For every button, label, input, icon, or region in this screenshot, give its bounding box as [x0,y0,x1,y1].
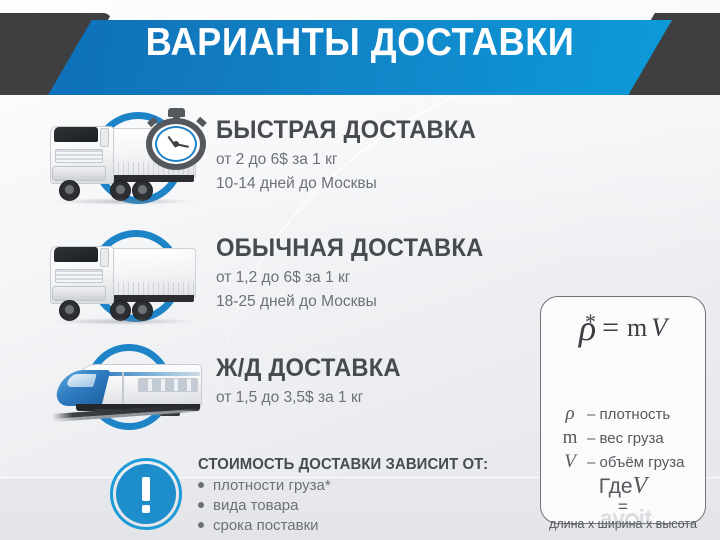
legend-symbol: ρ [559,403,581,425]
truck-bumper [52,166,106,181]
avito-watermark: avit [600,505,652,532]
cost-factor-label: вида товара [213,497,298,514]
option-title: БЫСТРАЯ ДОСТАВКА [216,116,476,145]
formula-fraction: m V [627,315,667,341]
option-price: от 1,2 до 6$ за 1 кг [216,269,497,287]
legend-item: m – вес груза [541,427,705,449]
legend-text: – плотность [587,406,670,423]
train-icon [52,358,202,424]
stopwatch-icon [146,108,208,170]
truck-windshield [54,127,98,142]
option-title: Ж/Д ДОСТАВКА [216,354,401,383]
cost-factor-item: срока поставки [198,517,500,534]
option-price: от 2 до 6$ за 1 кг [216,151,490,169]
train-windows [138,378,198,392]
truck-mirror [100,128,109,147]
legend-symbol: V [559,451,581,473]
truck-mirror [100,248,109,267]
density-formula-card: * ρ = m V ρ – плотность m – вес груза V … [540,296,706,524]
legend-text: – вес груза [587,430,664,447]
legend-item: V – объём груза [541,451,705,473]
formula-equals: = [602,311,619,345]
cost-factors-block: СТОИМОСТЬ ДОСТАВКИ ЗАВИСИТ ОТ: плотности… [198,456,500,534]
formula-expression: * ρ = m V [541,307,705,349]
exclamation-bar [142,477,150,501]
option-price: от 1,5 до 3,5$ за 1 кг [216,389,411,407]
cost-factor-item: плотности груза* [198,477,500,494]
formula-asterisk: * [585,309,596,335]
train-stripe [100,372,200,376]
option-title: ОБЫЧНАЯ ДОСТАВКА [216,234,483,263]
truck-trailer-ribs [108,282,194,295]
exclamation-dot [142,505,150,513]
formula-numerator: m [627,313,647,342]
volume-label: Где [599,475,633,498]
truck-windshield [54,247,98,262]
delivery-option-text: БЫСТРАЯ ДОСТАВКА от 2 до 6$ за 1 кг 10-1… [216,116,490,193]
watermark-circle-glyph [625,513,639,527]
volume-label-row: ГдеV [541,473,705,500]
header-banner: ВАРИАНТЫ ДОСТАВКИ [0,13,720,95]
train-door [122,372,124,404]
truck-grille [55,149,103,163]
cost-factor-label: срока поставки [213,517,319,534]
truck-shadow [54,318,196,325]
option-duration: 18-25 дней до Москвы [216,293,497,311]
stopwatch-center-pin [173,141,179,147]
train-windshield [66,374,97,387]
cost-factors-title: СТОИМОСТЬ ДОСТАВКИ ЗАВИСИТ ОТ: [198,456,488,474]
truck-shadow [54,198,196,205]
truck-icon-wrapper [42,226,212,332]
option-duration: 10-14 дней до Москвы [216,175,490,193]
legend-item: ρ – плотность [541,403,705,425]
delivery-option-text: Ж/Д ДОСТАВКА от 1,5 до 3,5$ за 1 кг [216,354,411,407]
train-icon-wrapper [42,342,212,448]
volume-symbol: V [633,473,648,499]
watermark-text-before: av [600,505,625,531]
page-title: ВАРИАНТЫ ДОСТАВКИ [25,21,695,65]
truck-icon [50,242,196,316]
bullet-icon [198,502,204,508]
truck-with-stopwatch-icon [42,106,212,212]
bullet-icon [198,522,204,528]
cost-factor-item: вида товара [198,497,500,514]
legend-text: – объём груза [587,454,685,471]
bullet-icon [198,482,204,488]
formula-legend: ρ – плотность m – вес груза V – объём гр… [541,403,705,475]
stopwatch-crown [168,108,185,117]
cost-factor-label: плотности груза* [213,477,331,494]
truck-grille [55,269,103,283]
exclamation-circle-icon [110,458,182,530]
formula-denominator: V [651,313,667,342]
watermark-text-after: it [639,505,652,531]
delivery-options-poster: ВАРИАНТЫ ДОСТАВКИ [0,0,720,540]
legend-symbol: m [559,427,581,449]
truck-bumper [52,286,106,301]
delivery-option-text: ОБЫЧНАЯ ДОСТАВКА от 1,2 до 6$ за 1 кг 18… [216,234,497,311]
